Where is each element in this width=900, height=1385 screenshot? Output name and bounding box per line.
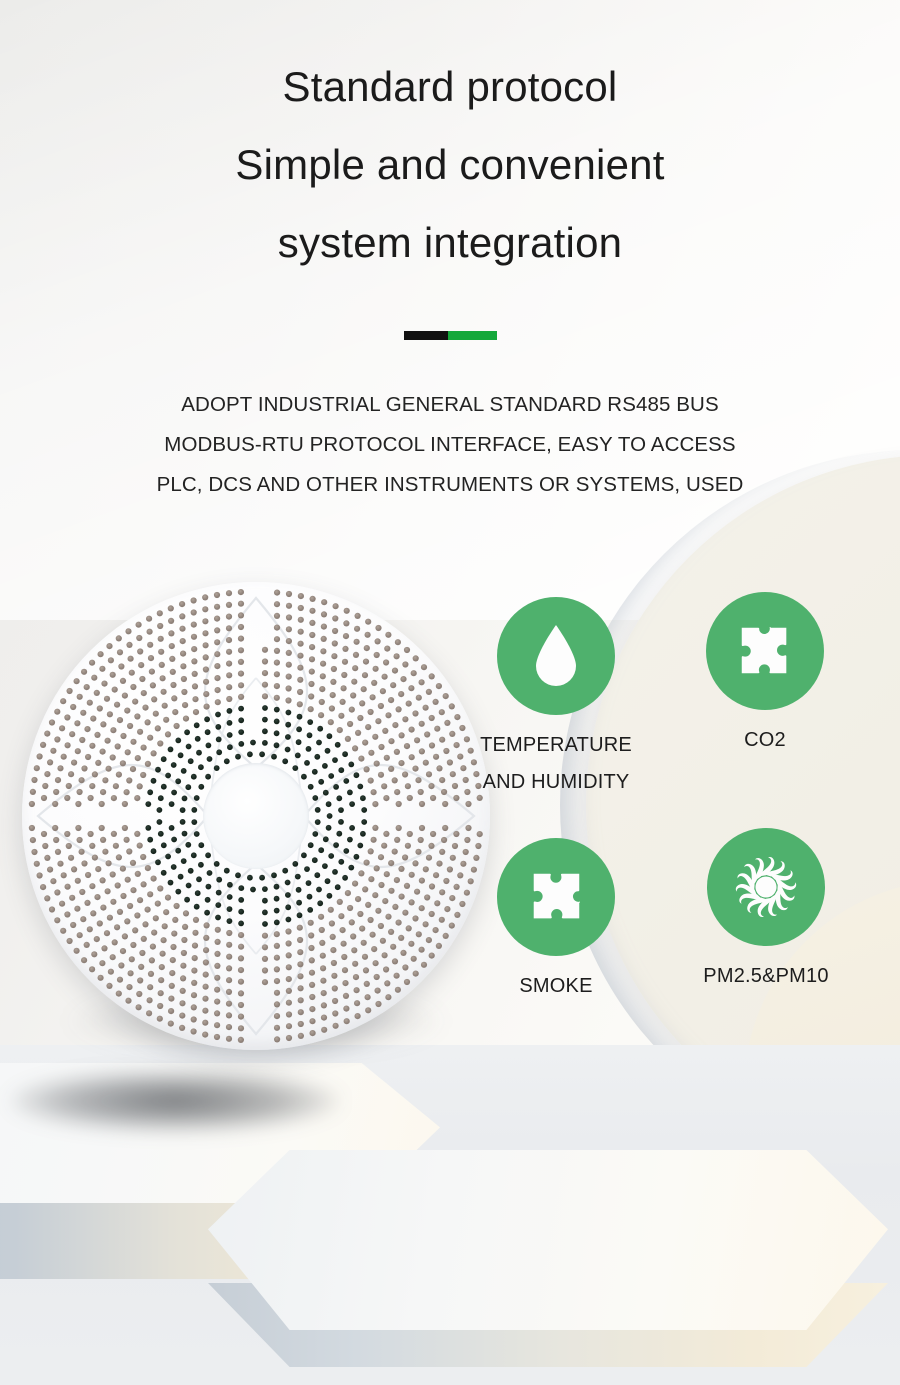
feature-badge-circle	[497, 838, 615, 956]
sensor-device-body	[22, 582, 490, 1050]
feature-temperature-humidity[interactable]: TEMPERATURE AND HUMIDITY	[456, 597, 656, 799]
podium-front-top	[208, 1150, 888, 1330]
product-cast-shadow	[10, 1070, 340, 1132]
marketing-banner: Standard protocol Simple and convenient …	[0, 0, 900, 1385]
feature-label: PM2.5&PM10	[668, 960, 864, 992]
accent-divider-green-segment	[448, 331, 497, 340]
feature-label-line-2: AND HUMIDITY	[456, 766, 656, 799]
water-drop-icon	[528, 623, 584, 689]
feature-smoke[interactable]: SMOKE	[458, 838, 654, 1002]
headline: Standard protocol Simple and convenient …	[0, 48, 900, 282]
headline-line-3: system integration	[0, 204, 900, 282]
feature-pm25-pm10[interactable]: PM2.5&PM10	[668, 828, 864, 992]
feature-label: SMOKE	[458, 970, 654, 1002]
feature-co2[interactable]: CO2	[670, 592, 860, 756]
sun-rays-icon	[727, 848, 805, 926]
accent-divider	[404, 331, 497, 340]
body-copy-line-2: MODBUS-RTU PROTOCOL INTERFACE, EASY TO A…	[0, 425, 900, 465]
accent-divider-dark-segment	[404, 331, 448, 340]
feature-badge-circle	[706, 592, 824, 710]
body-copy: ADOPT INDUSTRIAL GENERAL STANDARD RS485 …	[0, 385, 900, 505]
puzzle-piece-rotated-icon	[525, 866, 587, 928]
headline-line-2: Simple and convenient	[0, 126, 900, 204]
feature-badge-circle	[707, 828, 825, 946]
puzzle-piece-icon	[734, 620, 796, 682]
body-copy-line-1: ADOPT INDUSTRIAL GENERAL STANDARD RS485 …	[0, 385, 900, 425]
sensor-center-disc	[203, 763, 309, 869]
product-image	[22, 582, 490, 1050]
body-copy-line-3: PLC, DCS AND OTHER INSTRUMENTS OR SYSTEM…	[0, 465, 900, 505]
headline-line-1: Standard protocol	[0, 48, 900, 126]
feature-badge-circle	[497, 597, 615, 715]
feature-label-line-1: TEMPERATURE	[456, 729, 656, 762]
feature-label: CO2	[670, 724, 860, 756]
